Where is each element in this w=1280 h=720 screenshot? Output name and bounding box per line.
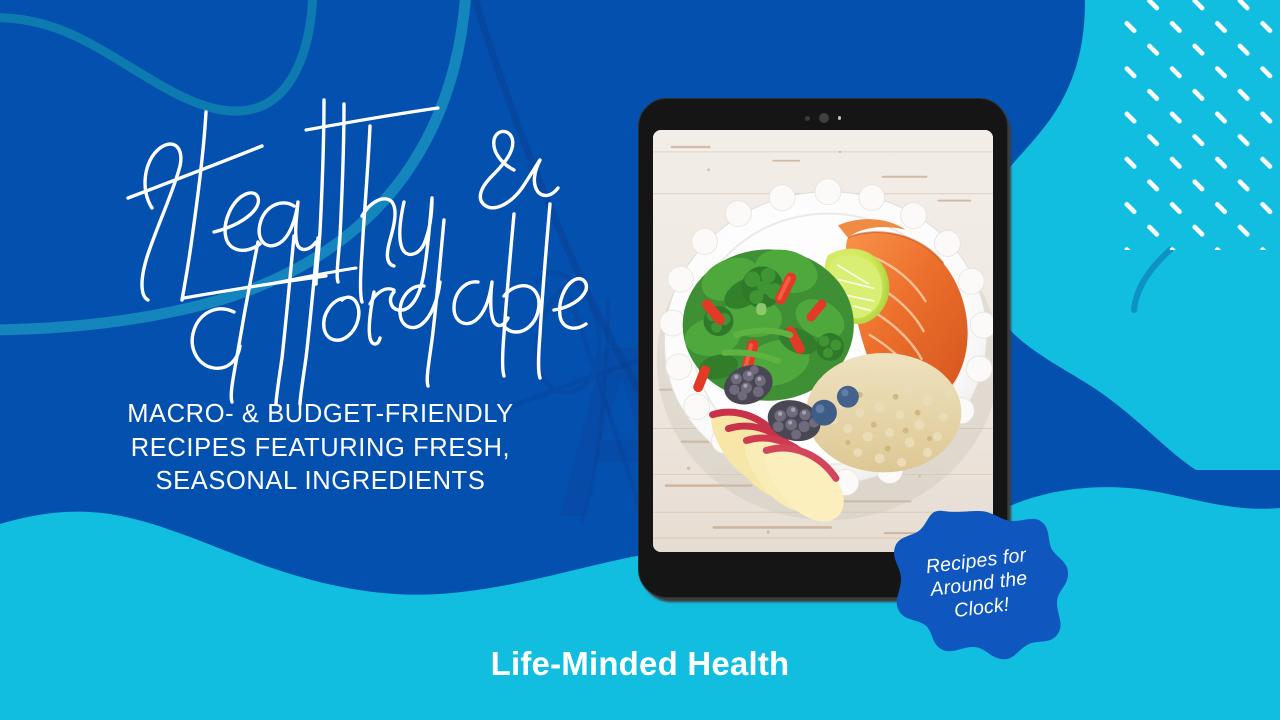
camera-lens-icon [819, 113, 829, 123]
poster-canvas: MACRO- & BUDGET-FRIENDLY RECIPES FEATURI… [0, 0, 1280, 720]
badge-shape [889, 509, 1069, 661]
promo-badge[interactable]: Recipes for Around the Clock! [889, 509, 1069, 661]
brand-name: Life-Minded Health [0, 645, 1280, 683]
subtitle-line-3: SEASONAL INGREDIENTS [108, 465, 533, 499]
tablet-camera-row [639, 113, 1007, 123]
diagonal-dash-pattern [1118, 0, 1280, 250]
subtitle-block: MACRO- & BUDGET-FRIENDLY RECIPES FEATURI… [108, 398, 533, 499]
tablet-screen[interactable] [653, 130, 993, 552]
subtitle-line-2: RECIPES FEATURING FRESH, [108, 432, 533, 466]
meal-photo [653, 130, 993, 552]
subtitle-line-1: MACRO- & BUDGET-FRIENDLY [108, 398, 533, 432]
sensor-dot-icon [805, 116, 810, 121]
indicator-dot-icon [838, 116, 842, 120]
